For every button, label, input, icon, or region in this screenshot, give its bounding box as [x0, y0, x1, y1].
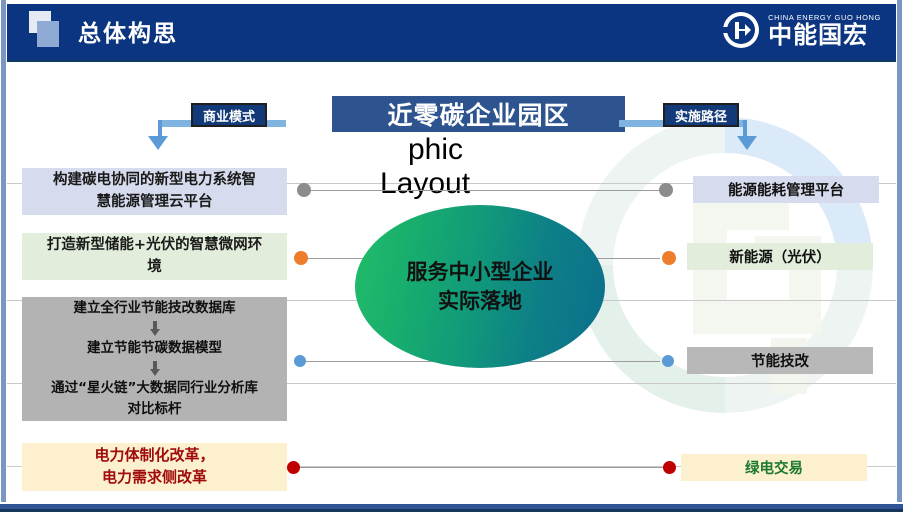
company-logo-mark [721, 10, 761, 50]
connector-dot-right-2 [662, 251, 676, 265]
company-logo-text: CHINA ENERGY GUO HONG 中能国宏 [768, 13, 881, 47]
left-box-power-market-reform[interactable]: 电力体制化改革， 电力需求侧改革 [22, 443, 287, 491]
header-accent-line [7, 60, 896, 62]
header-decor-square-blue [37, 21, 59, 47]
right-box-1-label: 能源能耗管理平台 [728, 179, 844, 200]
left-box-2-line-1: 打造新型储能+光伏的智慧微网环 [47, 235, 262, 256]
company-logo-chinese: 中能国宏 [768, 23, 881, 47]
right-box-4-label: 绿电交易 [745, 457, 803, 478]
left-box-3-line-2: 建立节能节碳数据模型 [87, 339, 222, 358]
left-box-3-line-1: 建立全行业节能技改数据库 [74, 299, 236, 318]
overlay-line-2: Layout [380, 167, 470, 201]
center-ellipse-line-1: 服务中小型企业 [407, 258, 554, 286]
tag-implementation-path[interactable]: 实施路径 [663, 103, 739, 127]
connector-dot-left-1 [297, 183, 311, 197]
left-box-4-line-1: 电力体制化改革， [94, 445, 214, 467]
center-ellipse-line-2: 实际落地 [407, 287, 554, 315]
slide-canvas: 总体构思 CHINA ENERGY GUO HONG 中能国宏 商业模式 实施路… [0, 0, 903, 512]
right-box-new-energy-pv[interactable]: 新能源（光伏） [687, 243, 873, 270]
left-box-energy-saving-database[interactable]: 建立全行业节能技改数据库 建立节能节碳数据模型 通过“星火链”大数据同行业分析库… [22, 297, 287, 421]
right-box-energy-management-platform[interactable]: 能源能耗管理平台 [693, 176, 879, 203]
connector-dot-left-3 [294, 355, 306, 367]
main-title-banner: 近零碳企业园区 [332, 96, 625, 132]
tag-business-model[interactable]: 商业模式 [191, 103, 267, 127]
left-box-1-line-2: 慧能源管理云平台 [97, 192, 213, 213]
slide-frame-left [0, 0, 7, 512]
connector-dot-right-4 [663, 461, 676, 474]
slide-frame-right [896, 0, 903, 512]
overlay-line-1: phic [408, 133, 463, 166]
left-box-3-line-4: 对比标杆 [128, 400, 182, 419]
slide-frame-bottom [0, 502, 903, 512]
left-box-smart-energy-cloud[interactable]: 构建碳电协同的新型电力系统智 慧能源管理云平台 [22, 168, 287, 215]
connector-line-row-4 [294, 467, 666, 468]
right-box-2-label: 新能源（光伏） [729, 246, 831, 267]
company-logo: CHINA ENERGY GUO HONG 中能国宏 [721, 8, 881, 52]
connector-dot-left-4 [287, 461, 300, 474]
left-box-3-line-3: 通过“星火链”大数据同行业分析库 [51, 379, 258, 398]
right-box-3-label: 节能技改 [751, 350, 809, 371]
down-arrow-icon-1 [148, 321, 162, 336]
connector-line-row-1 [300, 190, 660, 191]
left-box-4-line-2: 电力需求侧改革 [102, 467, 207, 489]
right-box-energy-saving-retrofit[interactable]: 节能技改 [687, 347, 873, 374]
left-box-storage-pv-microgrid[interactable]: 打造新型储能+光伏的智慧微网环 境 [22, 233, 287, 280]
connector-dot-left-2 [294, 251, 308, 265]
left-box-2-line-2: 境 [147, 257, 162, 278]
down-arrow-icon-2 [148, 361, 162, 376]
page-title: 总体构思 [78, 14, 178, 48]
right-box-green-power-trading[interactable]: 绿电交易 [681, 454, 867, 481]
connector-dot-right-3 [662, 355, 674, 367]
left-box-1-line-1: 构建碳电协同的新型电力系统智 [53, 170, 256, 191]
center-ellipse: 服务中小型企业 实际落地 [355, 205, 605, 368]
connector-dot-right-1 [659, 183, 673, 197]
